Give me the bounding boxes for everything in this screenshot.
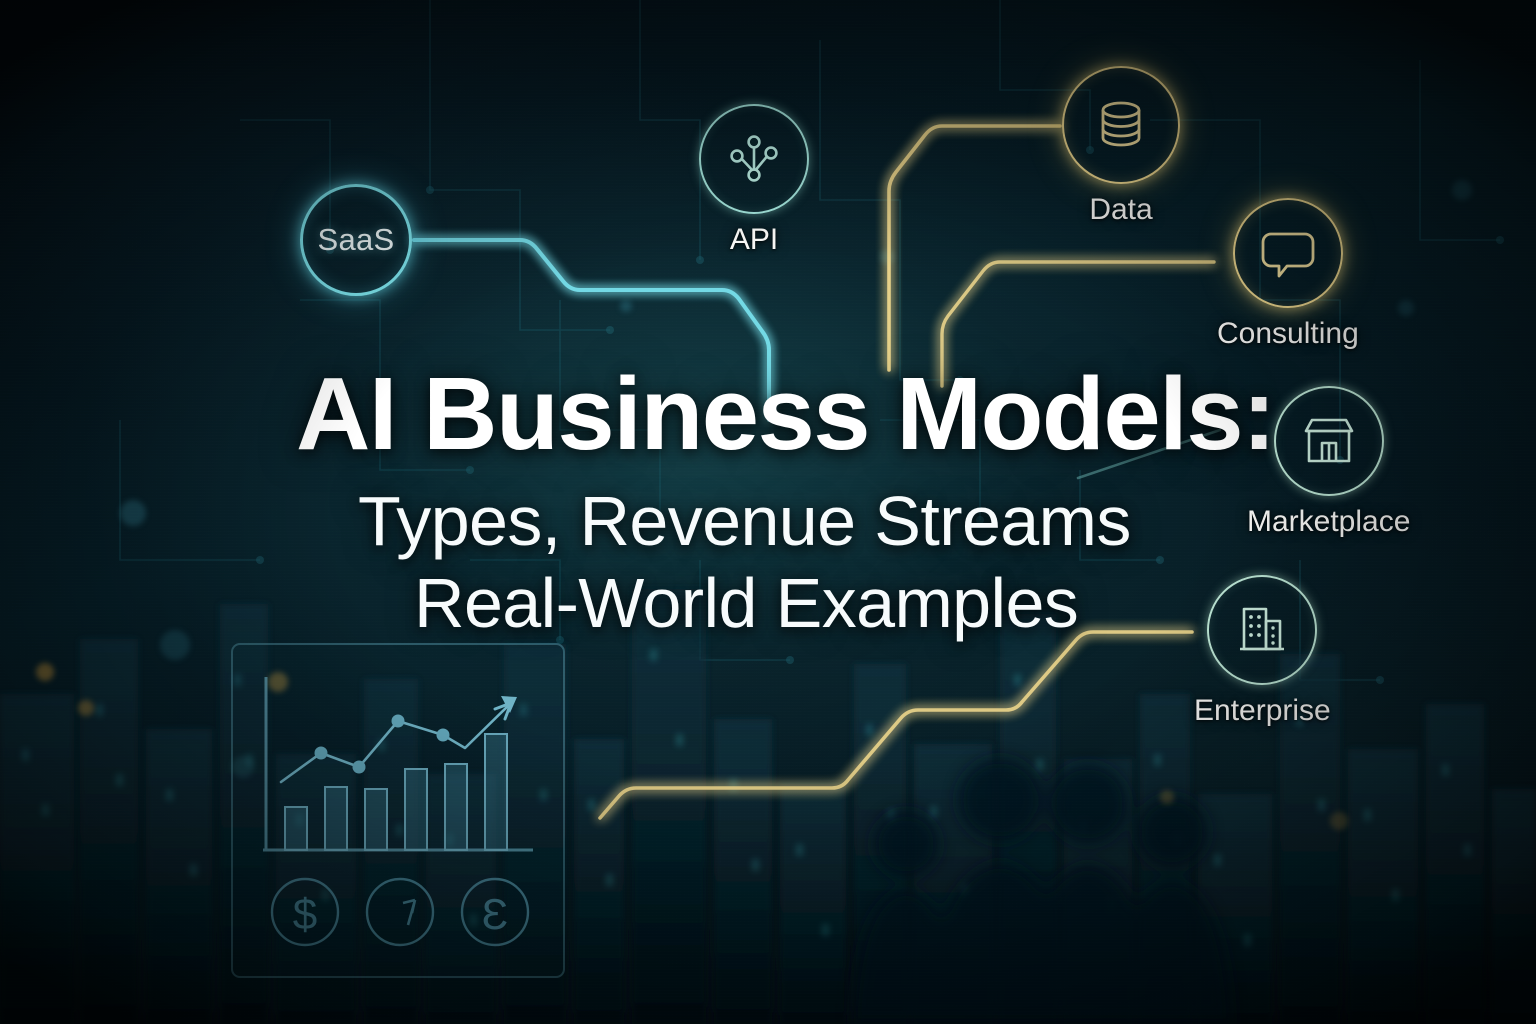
- node-data[interactable]: Data: [1062, 66, 1180, 227]
- headline-block: AI Business Models: Types, Revenue Strea…: [296, 362, 1296, 645]
- revenue-chart: $ Ɛ: [233, 645, 563, 976]
- page-title: AI Business Models:: [296, 362, 1296, 465]
- subtitle-line-1: Types, Revenue Streams: [296, 481, 1296, 563]
- network-icon: [723, 128, 785, 190]
- enterprise-ring: [1207, 575, 1317, 685]
- marketplace-label: Marketplace: [1247, 505, 1410, 539]
- growth-arrow-icon: [367, 879, 433, 945]
- currency-glyph: Ɛ: [482, 890, 509, 939]
- consulting-label: Consulting: [1217, 317, 1359, 351]
- connector-enterprise: [600, 632, 1192, 818]
- marketplace-ring: [1274, 386, 1384, 496]
- api-ring: [699, 104, 809, 214]
- storefront-icon: [1298, 411, 1360, 471]
- chart-markers: [315, 715, 450, 774]
- subtitle-line-2: Real-World Examples: [296, 563, 1296, 645]
- chat-bubble-icon: [1258, 224, 1318, 282]
- dollar-glyph: $: [293, 890, 317, 939]
- saas-label: SaaS: [317, 222, 394, 258]
- saas-ring: SaaS: [300, 184, 412, 296]
- chart-trendline: [281, 696, 517, 782]
- node-marketplace[interactable]: Marketplace: [1247, 386, 1410, 539]
- revenue-chart-panel: $ Ɛ: [231, 643, 565, 978]
- buildings-icon: [1232, 600, 1292, 660]
- node-saas[interactable]: SaaS: [300, 184, 412, 296]
- node-enterprise[interactable]: Enterprise: [1194, 575, 1331, 728]
- data-ring: [1062, 66, 1180, 184]
- data-label: Data: [1089, 193, 1152, 227]
- consulting-ring: [1233, 198, 1343, 308]
- node-consulting[interactable]: Consulting: [1217, 198, 1359, 351]
- viewer-silhouettes: [852, 758, 1232, 1024]
- api-label: API: [730, 223, 778, 257]
- connector-data: [889, 126, 1060, 370]
- node-api[interactable]: API: [699, 104, 809, 257]
- poster-canvas: AI Business Models: Types, Revenue Strea…: [0, 0, 1536, 1024]
- enterprise-label: Enterprise: [1194, 694, 1331, 728]
- database-icon: [1089, 93, 1153, 157]
